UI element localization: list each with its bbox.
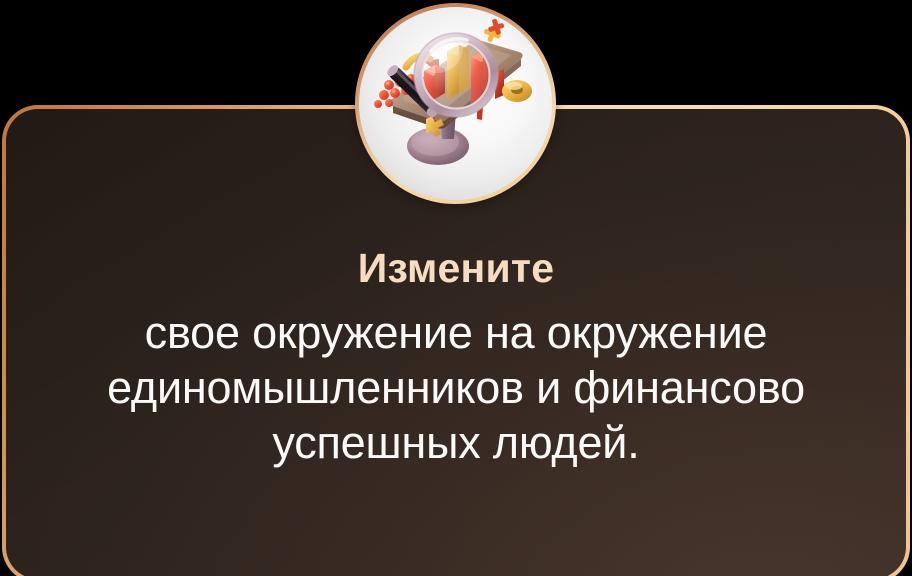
- page-title: Измените: [20, 247, 892, 290]
- body-line-2: единомышленников и финансово: [20, 361, 892, 416]
- card-copy: Измените свое окружение на окружение еди…: [6, 247, 906, 471]
- badge-inner-surface: [359, 7, 552, 200]
- slide-canvas: Измените свое окружение на окружение еди…: [0, 0, 912, 576]
- body-line-1: свое окружение на окружение: [20, 306, 892, 361]
- magnifier-over-growth-arrows-illustration-icon: [359, 7, 552, 200]
- badge-circle: [355, 3, 556, 204]
- body-line-3: успешных людей.: [20, 416, 892, 471]
